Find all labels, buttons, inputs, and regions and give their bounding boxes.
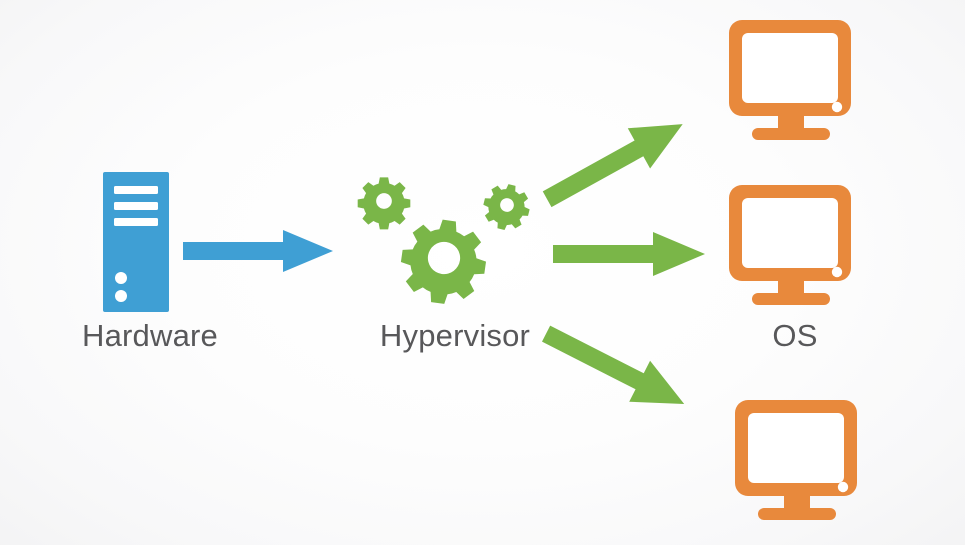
- server-tower-icon: [103, 172, 169, 312]
- gears-icon: [352, 168, 552, 313]
- os-label: OS: [695, 318, 895, 354]
- gear-small-left: [358, 177, 411, 229]
- monitor-icon: [727, 18, 855, 142]
- arrow-hypervisor-to-os-bottom: [546, 320, 706, 425]
- arrow-hardware-to-hypervisor: [183, 228, 333, 274]
- gear-large-center: [396, 215, 491, 309]
- hardware-label: Hardware: [0, 318, 300, 354]
- diagram-canvas: Hardware Hypervisor: [0, 0, 965, 545]
- gear-small-right: [479, 179, 535, 234]
- monitor-icon: [733, 398, 861, 522]
- arrow-hypervisor-to-os-middle: [553, 231, 705, 277]
- monitor-icon: [727, 183, 855, 307]
- arrow-hypervisor-to-os-top: [546, 108, 706, 213]
